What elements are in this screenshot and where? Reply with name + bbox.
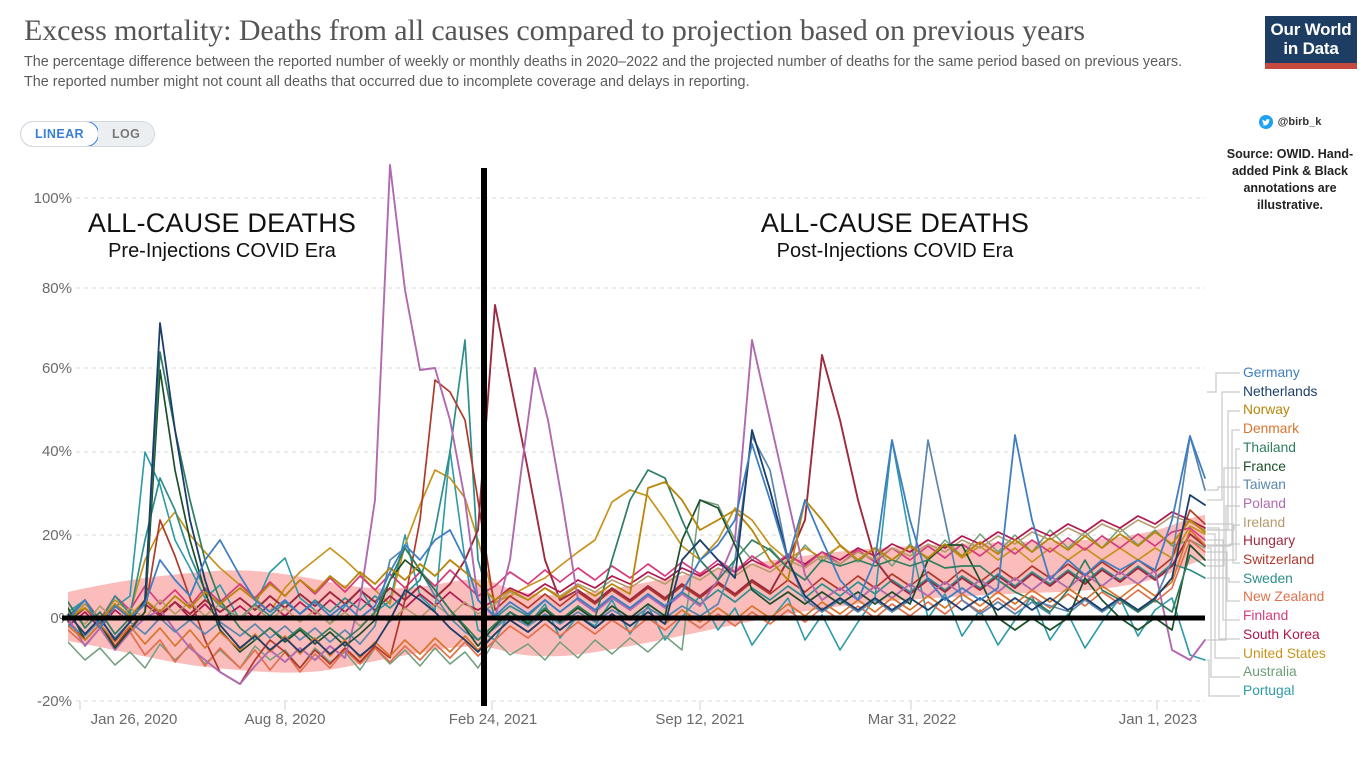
series-taiwan (68, 436, 1205, 644)
annotation-post-main: ALL-CAUSE DEATHS (735, 208, 1055, 238)
series-portugal (68, 440, 1205, 660)
toggle-log[interactable]: LOG (98, 122, 154, 146)
series-hungary (68, 305, 1205, 624)
legend-connectors (1207, 373, 1240, 696)
legend-item-norway[interactable]: Norway (1243, 401, 1365, 420)
legend-item-denmark[interactable]: Denmark (1243, 420, 1365, 439)
owid-logo-line2: in Data (1267, 39, 1355, 58)
series-thailand (68, 352, 1205, 640)
legend-item-united-states[interactable]: United States (1243, 645, 1365, 664)
series-norway (68, 482, 1205, 620)
chart-plot-area: 100% 80% 60% 40% 20% 0% -20% Jan 26, 202… (0, 0, 1365, 760)
legend-item-south-korea[interactable]: South Korea (1243, 626, 1365, 645)
series-poland (68, 165, 1205, 684)
chart-header: Excess mortality: Deaths from all causes… (24, 14, 1204, 92)
xtick-label-0: Jan 26, 2020 (54, 711, 214, 728)
series-south-korea (68, 512, 1205, 628)
ytick-label-100: 100% (12, 190, 72, 207)
series-ireland (68, 516, 1205, 626)
page-title: Excess mortality: Deaths from all causes… (24, 14, 1204, 48)
chart-canvas (0, 0, 1365, 760)
twitter-credit[interactable]: @birb_k (1225, 115, 1355, 129)
legend-item-finland[interactable]: Finland (1243, 607, 1365, 626)
ytick-label-neg20: -20% (12, 693, 72, 710)
annotation-pre-main: ALL-CAUSE DEATHS (62, 208, 382, 238)
gridlines (68, 198, 1205, 701)
legend-item-hungary[interactable]: Hungary (1243, 532, 1365, 551)
owid-logo-stripe (1265, 63, 1357, 69)
series-united-states (68, 470, 1205, 622)
annotation-pre-injections: ALL-CAUSE DEATHS Pre-Injections COVID Er… (62, 208, 382, 264)
source-note: Source: OWID. Hand-added Pink & Black an… (1225, 146, 1355, 214)
xtick-label-3: Sep 12, 2021 (620, 711, 780, 728)
legend-item-australia[interactable]: Australia (1243, 663, 1365, 682)
annotation-post-injections: ALL-CAUSE DEATHS Post-Injections COVID E… (735, 208, 1055, 264)
xtick-label-2: Feb 24, 2021 (413, 711, 573, 728)
ytick-label-80: 80% (12, 280, 72, 297)
legend-item-france[interactable]: France (1243, 458, 1365, 477)
ytick-label-0: 0% (12, 610, 72, 627)
scale-toggle[interactable]: LINEAR LOG (20, 121, 155, 147)
ytick-label-60: 60% (12, 360, 72, 377)
legend-item-taiwan[interactable]: Taiwan (1243, 476, 1365, 495)
series-netherlands (68, 323, 1205, 656)
credit-block: @birb_k Source: OWID. Hand-added Pink & … (1225, 115, 1355, 214)
owid-logo-box: Our World in Data (1265, 16, 1357, 63)
legend-item-netherlands[interactable]: Netherlands (1243, 383, 1365, 402)
series-germany (68, 435, 1205, 628)
xtick-label-5: Jan 1, 2023 (1078, 711, 1238, 728)
legend-item-thailand[interactable]: Thailand (1243, 439, 1365, 458)
chart-subtitle: The percentage difference between the re… (24, 52, 1196, 92)
series-sweden (68, 340, 1205, 622)
owid-logo-line1: Our World (1267, 20, 1355, 39)
ytick-label-20: 20% (12, 527, 72, 544)
legend-item-germany[interactable]: Germany (1243, 364, 1365, 383)
legend-item-portugal[interactable]: Portugal (1243, 682, 1365, 701)
annotation-pre-sub: Pre-Injections COVID Era (62, 239, 382, 264)
chart-legend[interactable]: Germany Netherlands Norway Denmark Thail… (1243, 364, 1365, 701)
twitter-icon (1259, 115, 1273, 129)
ytick-label-40: 40% (12, 443, 72, 460)
annotation-post-sub: Post-Injections COVID Era (735, 239, 1055, 264)
series-finland (68, 528, 1205, 620)
owid-logo[interactable]: Our World in Data (1265, 16, 1357, 69)
legend-item-ireland[interactable]: Ireland (1243, 514, 1365, 533)
series-new-zealand (68, 540, 1205, 672)
series-france (68, 370, 1205, 652)
series-australia (68, 500, 1205, 670)
legend-item-new-zealand[interactable]: New Zealand (1243, 588, 1365, 607)
series-denmark (68, 530, 1205, 658)
legend-item-sweden[interactable]: Sweden (1243, 570, 1365, 589)
legend-item-switzerland[interactable]: Switzerland (1243, 551, 1365, 570)
legend-item-poland[interactable]: Poland (1243, 495, 1365, 514)
xtick-label-4: Mar 31, 2022 (832, 711, 992, 728)
axis-ticks (80, 701, 1157, 710)
twitter-handle-label: @birb_k (1278, 116, 1322, 128)
illustrative-pink-band (68, 515, 1205, 673)
series-switzerland (68, 380, 1205, 684)
xtick-label-1: Aug 8, 2020 (205, 711, 365, 728)
toggle-linear[interactable]: LINEAR (20, 121, 99, 147)
